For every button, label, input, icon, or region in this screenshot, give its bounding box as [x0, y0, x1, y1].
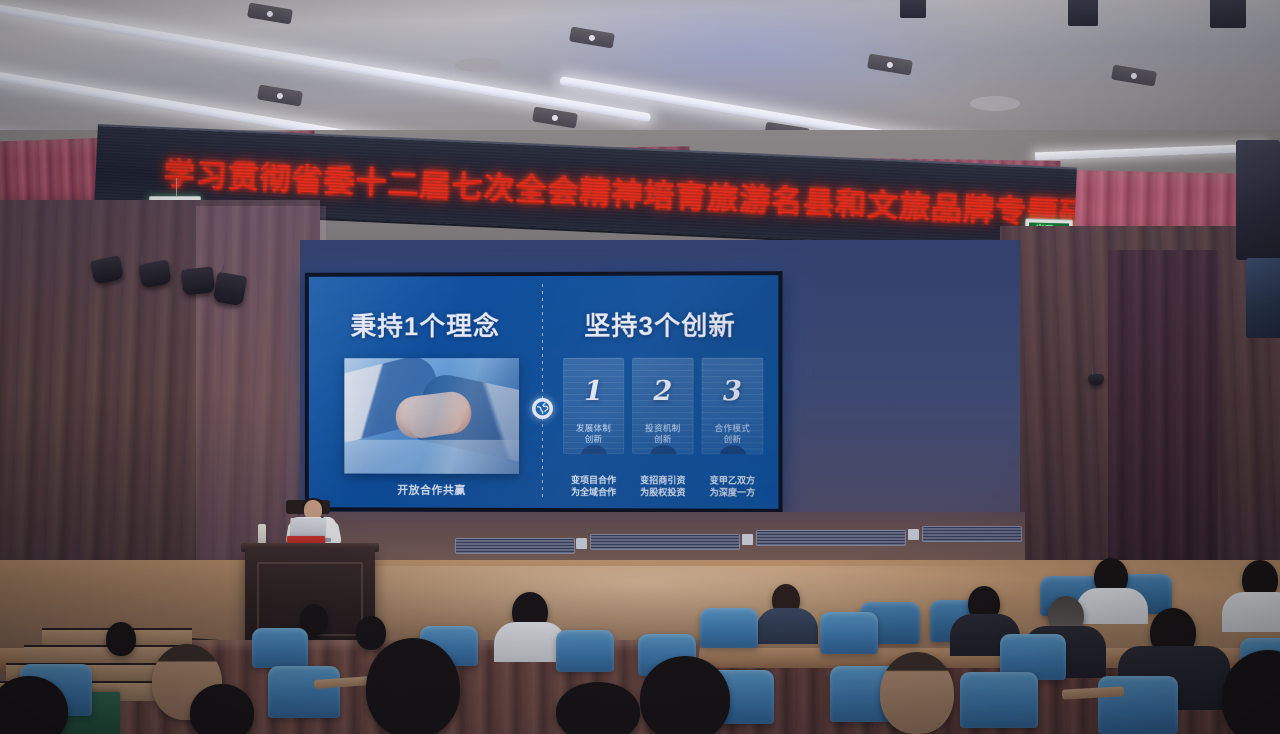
innovation-cards: 1 发展体制 创新 2 投资机制 创新 — [563, 358, 764, 455]
card-1-number: 1 — [563, 376, 624, 407]
card-3-caption-line1: 变甲乙双方 — [710, 475, 755, 485]
globe-icon — [532, 398, 553, 419]
card-2-label: 投资机制 创新 — [632, 423, 693, 445]
audience-head-f2 — [366, 638, 460, 734]
audience-head-f6 — [556, 682, 640, 734]
ceiling-speaker-3 — [1210, 0, 1246, 28]
card-2-caption: 变招商引资 为股权投资 — [632, 474, 693, 498]
seat-mid-5 — [252, 628, 308, 668]
stage-spotlight-3 — [181, 266, 216, 295]
audience-seating — [0, 560, 1280, 734]
card-1-label: 发展体制 创新 — [563, 423, 624, 445]
audience-shoulders-b1 — [1076, 588, 1148, 624]
card-2-label-line1: 投资机制 — [645, 423, 680, 433]
card-1-caption-line1: 变项目合作 — [571, 475, 616, 485]
wall-vent-divider-1 — [576, 538, 587, 549]
innovation-card-2: 2 投资机制 创新 — [632, 358, 693, 454]
audience-head-f5 — [1222, 650, 1280, 734]
wall-vent-divider-3 — [908, 529, 919, 540]
slide-divider-line — [542, 284, 543, 500]
wall-vent-2 — [590, 534, 740, 550]
card-3-caption: 变甲乙双方 为深度一方 — [702, 474, 764, 498]
card-1-caption-line2: 为全域合作 — [571, 487, 616, 497]
light-connector-block-5 — [257, 84, 303, 106]
stage-spotlight-4 — [213, 272, 248, 307]
light-connector-block-4 — [1111, 64, 1157, 86]
innovation-card-captions: 变项目合作 为全域合作 变招商引资 为股权投资 变甲乙双方 为深度一方 — [563, 474, 764, 499]
line-array-speaker-right — [1236, 140, 1280, 260]
card-3-label-line1: 合作模式 — [715, 423, 751, 433]
seat-mid-2 — [820, 612, 878, 654]
ceiling-speaker-2 — [1068, 0, 1098, 26]
innovation-card-3: 3 合作模式 创新 — [702, 358, 764, 455]
innovation-card-1: 1 发展体制 创新 — [563, 358, 624, 454]
card-2-number: 2 — [632, 376, 693, 407]
wall-vent-4 — [922, 526, 1022, 542]
card-1-label-line2: 创新 — [585, 434, 603, 444]
wall-vent-divider-2 — [742, 534, 753, 545]
exit-sign-left-hanger — [176, 178, 177, 196]
audience-shoulders-b3 — [1222, 592, 1280, 632]
conference-hall-photo: 学习贯彻省委十二届七次全会精神培育旅游名县和文旅品牌专题研讨班 出口 出口→ 出… — [0, 0, 1280, 734]
card-3-number: 3 — [702, 376, 764, 407]
card-2-caption-line2: 为股权投资 — [640, 487, 685, 497]
audience-head-f3 — [640, 656, 730, 734]
card-3-label-line2: 创新 — [724, 434, 742, 444]
seat-front-5 — [960, 672, 1038, 728]
card-2-caption-line1: 变招商引资 — [640, 475, 685, 485]
wall-vent-3 — [756, 530, 906, 546]
slide-heading-right: 坚持3个创新 — [542, 305, 778, 343]
light-connector-block-1 — [247, 2, 293, 24]
audience-head-f4 — [880, 652, 954, 734]
seat-mid-7 — [556, 630, 614, 672]
audience-head-f8 — [190, 684, 254, 734]
slide-surface: 秉持1个理念 坚持3个创新 开放合作共赢 — [309, 275, 779, 509]
projection-screen: 秉持1个理念 坚持3个创新 开放合作共赢 — [305, 271, 783, 513]
handshake-photo — [344, 358, 519, 474]
card-1-caption: 变项目合作 为全域合作 — [563, 474, 624, 498]
line-array-speaker-right-lower — [1246, 258, 1280, 338]
card-3-caption-line2: 为深度一方 — [710, 487, 755, 497]
ceiling-recessed-light-1 — [455, 58, 503, 72]
slide-headings: 秉持1个理念 坚持3个创新 — [309, 305, 779, 343]
ceiling-speaker-1 — [900, 0, 926, 18]
slide-heading-left: 秉持1个理念 — [309, 306, 542, 343]
audience-head-m7 — [106, 622, 136, 656]
ceiling-recessed-light-2 — [970, 96, 1020, 111]
photo-light-streak — [344, 358, 519, 474]
seat-front-6 — [1098, 676, 1178, 734]
audience-head-m8 — [356, 616, 386, 650]
audience-shoulders-m4 — [756, 608, 818, 644]
wall-vent-1 — [455, 538, 575, 554]
card-1-label-line1: 发展体制 — [576, 423, 611, 433]
card-2-label-line2: 创新 — [654, 434, 672, 444]
card-3-label: 合作模式 创新 — [702, 423, 764, 445]
slide-photo-caption: 开放合作共赢 — [344, 481, 519, 497]
seat-mid-1 — [700, 608, 758, 648]
seat-front-2 — [268, 666, 340, 718]
